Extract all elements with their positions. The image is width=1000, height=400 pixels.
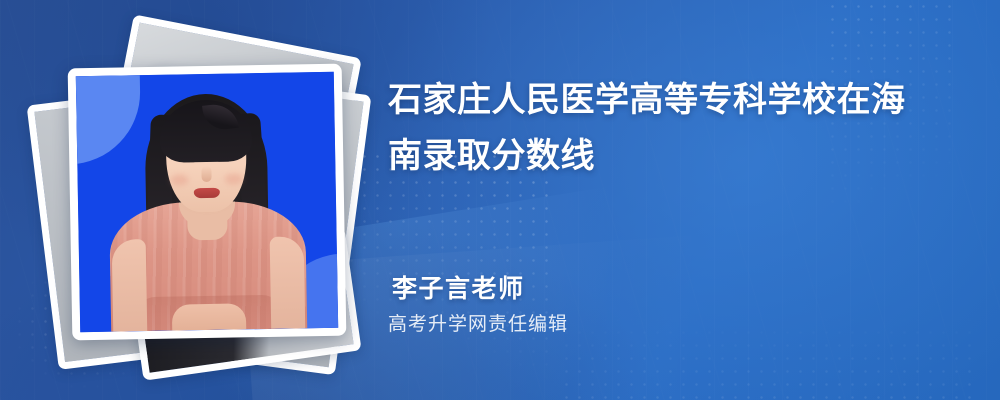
lips [194,188,220,198]
portrait-figure [76,72,338,332]
hands [172,303,246,330]
banner-root: 石家庄人民医学高等专科学校在海 南录取分数线 李子言老师 高考升学网责任编辑 [0,0,1000,400]
text-column: 石家庄人民医学高等专科学校在海 南录取分数线 李子言老师 高考升学网责任编辑 [388,0,968,400]
shoulder-left [112,239,148,332]
byline: 李子言老师 高考升学网责任编辑 [388,272,808,340]
author-name: 李子言老师 [388,272,808,306]
portrait-photo-frame [68,64,347,341]
shoulder-right [270,236,306,329]
portrait-photo [76,72,338,332]
banner-title: 石家庄人民医学高等专科学校在海 南录取分数线 [388,72,933,184]
nose [201,166,211,182]
photo-card-stack [38,28,358,368]
author-role: 高考升学网责任编辑 [388,310,808,340]
banner-title-line-1: 石家庄人民医学高等专科学校在海 [388,72,933,128]
banner-title-line-2: 南录取分数线 [388,128,933,184]
